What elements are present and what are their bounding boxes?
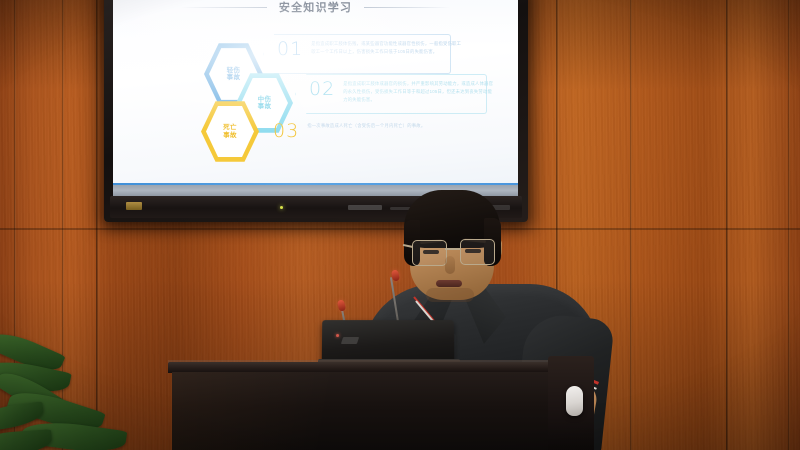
mouth: [436, 280, 462, 287]
slide-item-02: 02 是指造成职工肢体或器官的损伤，并严重影响其劳动能力，或造成人体器官的永久性…: [309, 80, 495, 104]
item-body-text: 是指造成职工肢体或器官的损伤，并严重影响其劳动能力，或造成人体器官的永久性损伤，…: [343, 80, 495, 104]
glasses-bridge: [445, 248, 461, 250]
chin-shadow: [426, 288, 474, 302]
slide-item-01: 01 是指造成职工肢体伤残，或某些器官功能性或器官性损伤，一般指受伤职工歇工一个…: [277, 40, 463, 59]
lens-left: [412, 240, 447, 266]
plant-leaf: [0, 429, 53, 450]
hexagon-label-line2: 事故: [223, 132, 237, 139]
laptop-indicator-led: [336, 334, 339, 337]
display-badge-icon: [126, 202, 142, 210]
nose: [445, 256, 455, 274]
item-body-text: 是指造成职工肢体伤残，或某些器官功能性或器官性损伤，一般指受伤职工歇工一个工作日…: [311, 40, 463, 56]
laptop-screen-back: [322, 320, 455, 364]
hexagon-label: 中伤 事故: [258, 96, 272, 111]
computer-mouse[interactable]: [566, 386, 583, 416]
room-photo-scene: 安全知识学习 轻伤 事故: [0, 0, 800, 450]
slide-content: 安全知识学习 轻伤 事故: [113, 0, 518, 196]
hexagon-label: 死亡 事故: [223, 124, 237, 139]
hexagon-label: 轻伤 事故: [227, 67, 241, 82]
item-body-text: 指一次事故造成人死亡（含受伤后一个月内死亡）的事故。: [307, 122, 425, 130]
hexagon-label-line2: 事故: [258, 103, 272, 110]
wall-display[interactable]: 安全知识学习 轻伤 事故: [104, 0, 528, 222]
laptop-brand-mark: [341, 337, 359, 344]
item-number: 01: [277, 40, 303, 59]
slide-item-03: 03 指一次事故造成人死亡（含受伤后一个月内死亡）的事故。: [273, 122, 425, 141]
hexagon-label-line1: 中伤: [258, 96, 272, 103]
lens-right: [460, 239, 495, 265]
hexagon-label-line1: 死亡: [223, 124, 237, 131]
hexagon-label-line2: 事故: [227, 74, 241, 81]
potted-plant: [0, 336, 132, 450]
podium-sheen: [172, 372, 570, 450]
presentation-slide: 安全知识学习 轻伤 事故: [113, 0, 518, 196]
item-number: 02: [309, 80, 335, 99]
power-led-icon: [280, 206, 283, 209]
display-screen[interactable]: 安全知识学习 轻伤 事故: [113, 0, 518, 196]
item-number: 03: [273, 122, 299, 141]
hexagon-label-line1: 轻伤: [227, 67, 241, 74]
